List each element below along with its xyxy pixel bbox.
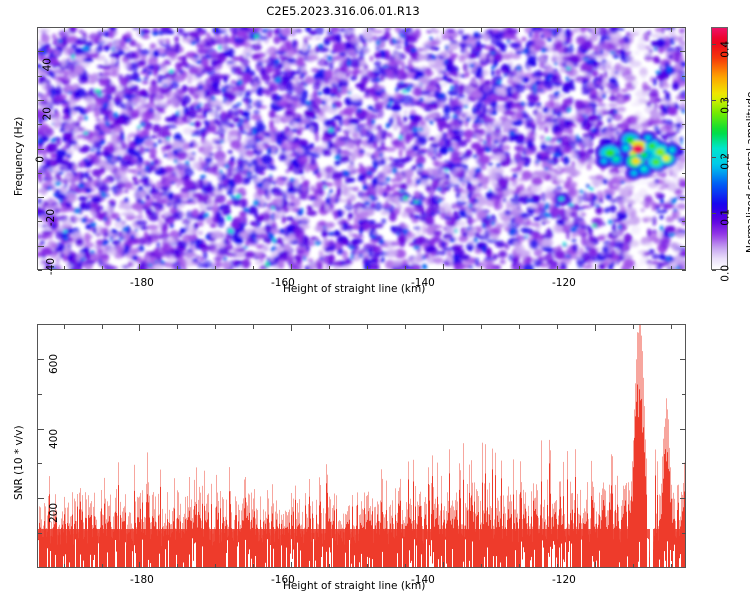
tick-mark bbox=[329, 325, 330, 329]
tick-mark bbox=[680, 100, 686, 101]
colorbar-tick-label: 0.2 bbox=[720, 153, 732, 170]
tick-mark bbox=[519, 266, 520, 270]
tick-mark bbox=[680, 51, 686, 52]
y-tick-label: 600 bbox=[48, 354, 60, 374]
x-tick-label: -180 bbox=[130, 277, 154, 289]
tick-mark bbox=[443, 325, 444, 331]
tick-mark bbox=[38, 51, 44, 52]
tick-mark bbox=[102, 28, 103, 32]
tick-mark bbox=[682, 394, 686, 395]
tick-mark bbox=[481, 266, 482, 270]
tick-mark bbox=[712, 100, 716, 101]
tick-mark bbox=[682, 463, 686, 464]
y-tick-label: -20 bbox=[45, 209, 57, 226]
tick-mark bbox=[682, 270, 686, 271]
tick-mark bbox=[682, 124, 686, 125]
y-tick-label: 20 bbox=[41, 107, 53, 120]
tick-mark bbox=[519, 564, 520, 568]
colorbar-label: Normalized spectral amplitude bbox=[745, 92, 750, 253]
tick-mark bbox=[671, 28, 672, 32]
x-tick-label: -120 bbox=[552, 574, 576, 586]
tick-mark bbox=[38, 246, 44, 247]
tick-mark bbox=[519, 325, 520, 329]
spectrogram-axes bbox=[37, 27, 686, 270]
tick-mark bbox=[723, 270, 727, 271]
tick-mark bbox=[671, 564, 672, 568]
tick-mark bbox=[38, 27, 42, 28]
tick-mark bbox=[680, 246, 686, 247]
tick-mark bbox=[64, 266, 65, 270]
tick-mark bbox=[723, 157, 727, 158]
tick-mark bbox=[405, 564, 406, 568]
tick-mark bbox=[38, 394, 42, 395]
x-axis-label: Height of straight line (km) bbox=[283, 580, 425, 592]
snr-axes bbox=[37, 324, 686, 568]
tick-mark bbox=[633, 325, 634, 329]
tick-mark bbox=[215, 28, 216, 32]
tick-mark bbox=[139, 325, 140, 331]
tick-mark bbox=[680, 429, 686, 430]
tick-mark bbox=[367, 564, 368, 568]
tick-mark bbox=[291, 325, 292, 331]
tick-mark bbox=[682, 221, 686, 222]
tick-mark bbox=[64, 564, 65, 568]
tick-mark bbox=[712, 44, 716, 45]
tick-mark bbox=[443, 264, 444, 270]
tick-mark bbox=[557, 564, 558, 568]
tick-mark bbox=[367, 28, 368, 32]
tick-mark bbox=[253, 325, 254, 329]
tick-mark bbox=[102, 564, 103, 568]
tick-mark bbox=[405, 28, 406, 32]
tick-mark bbox=[443, 562, 444, 568]
tick-mark bbox=[139, 562, 140, 568]
tick-mark bbox=[38, 221, 42, 222]
colorbar-tick-label: 0.0 bbox=[720, 265, 732, 282]
colorbar-gradient bbox=[712, 28, 727, 269]
tick-mark bbox=[671, 325, 672, 329]
tick-mark bbox=[712, 270, 716, 271]
tick-mark bbox=[253, 266, 254, 270]
x-tick-label: -180 bbox=[130, 574, 154, 586]
colorbar bbox=[711, 27, 728, 270]
tick-mark bbox=[253, 28, 254, 32]
tick-mark bbox=[633, 28, 634, 32]
tick-mark bbox=[64, 28, 65, 32]
x-tick-label: -120 bbox=[552, 277, 576, 289]
tick-mark bbox=[38, 359, 44, 360]
tick-mark bbox=[38, 197, 44, 198]
tick-mark bbox=[671, 266, 672, 270]
y-tick-label: 400 bbox=[48, 429, 60, 449]
tick-mark bbox=[557, 266, 558, 270]
colorbar-tick-label: 0.1 bbox=[720, 209, 732, 226]
tick-mark bbox=[682, 27, 686, 28]
tick-mark bbox=[519, 28, 520, 32]
tick-mark bbox=[38, 173, 42, 174]
y-tick-label: 40 bbox=[41, 58, 53, 71]
tick-mark bbox=[38, 124, 42, 125]
tick-mark bbox=[38, 429, 44, 430]
tick-mark bbox=[367, 325, 368, 329]
tick-mark bbox=[405, 325, 406, 329]
tick-mark bbox=[329, 266, 330, 270]
tick-mark bbox=[177, 28, 178, 32]
tick-mark bbox=[215, 325, 216, 329]
x-axis-label: Height of straight line (km) bbox=[283, 283, 425, 295]
tick-mark bbox=[723, 44, 727, 45]
tick-mark bbox=[291, 264, 292, 270]
tick-mark bbox=[38, 149, 44, 150]
tick-mark bbox=[215, 564, 216, 568]
tick-mark bbox=[329, 28, 330, 32]
tick-mark bbox=[177, 266, 178, 270]
page-title: C2E5.2023.316.06.01.R13 bbox=[0, 4, 686, 18]
y-tick-label: 0 bbox=[35, 156, 47, 163]
tick-mark bbox=[102, 266, 103, 270]
tick-mark bbox=[682, 533, 686, 534]
tick-mark bbox=[38, 498, 44, 499]
y-axis-label: Frequency (Hz) bbox=[13, 117, 25, 196]
tick-mark bbox=[291, 28, 292, 34]
tick-mark bbox=[680, 359, 686, 360]
tick-mark bbox=[680, 197, 686, 198]
tick-mark bbox=[595, 325, 596, 331]
tick-mark bbox=[177, 564, 178, 568]
tick-mark bbox=[633, 266, 634, 270]
spectrogram-image bbox=[38, 28, 685, 269]
tick-mark bbox=[367, 266, 368, 270]
tick-mark bbox=[723, 100, 727, 101]
tick-mark bbox=[38, 463, 42, 464]
tick-mark bbox=[481, 564, 482, 568]
snr-trace bbox=[38, 325, 685, 567]
tick-mark bbox=[680, 498, 686, 499]
tick-mark bbox=[291, 562, 292, 568]
tick-mark bbox=[595, 264, 596, 270]
tick-mark bbox=[682, 173, 686, 174]
tick-mark bbox=[680, 149, 686, 150]
y-tick-label: -40 bbox=[45, 258, 57, 275]
tick-mark bbox=[557, 325, 558, 329]
tick-mark bbox=[329, 564, 330, 568]
tick-mark bbox=[102, 325, 103, 329]
tick-mark bbox=[595, 562, 596, 568]
tick-mark bbox=[215, 266, 216, 270]
tick-mark bbox=[139, 264, 140, 270]
tick-mark bbox=[38, 100, 44, 101]
tick-mark bbox=[712, 213, 716, 214]
tick-mark bbox=[64, 325, 65, 329]
tick-mark bbox=[253, 564, 254, 568]
tick-mark bbox=[557, 28, 558, 32]
tick-mark bbox=[481, 28, 482, 32]
tick-mark bbox=[443, 28, 444, 34]
tick-mark bbox=[177, 325, 178, 329]
tick-mark bbox=[38, 76, 42, 77]
tick-mark bbox=[723, 213, 727, 214]
tick-mark bbox=[38, 533, 42, 534]
tick-mark bbox=[481, 325, 482, 329]
tick-mark bbox=[682, 76, 686, 77]
tick-mark bbox=[38, 270, 42, 271]
tick-mark bbox=[139, 28, 140, 34]
tick-mark bbox=[405, 266, 406, 270]
tick-mark bbox=[595, 28, 596, 34]
y-tick-label: 200 bbox=[48, 503, 60, 523]
y-axis-label: SNR (10 * v/v) bbox=[13, 425, 25, 500]
tick-mark bbox=[633, 564, 634, 568]
tick-mark bbox=[712, 157, 716, 158]
figure-canvas: C2E5.2023.316.06.01.R13 40 20 0 -20 -40 … bbox=[0, 0, 750, 600]
